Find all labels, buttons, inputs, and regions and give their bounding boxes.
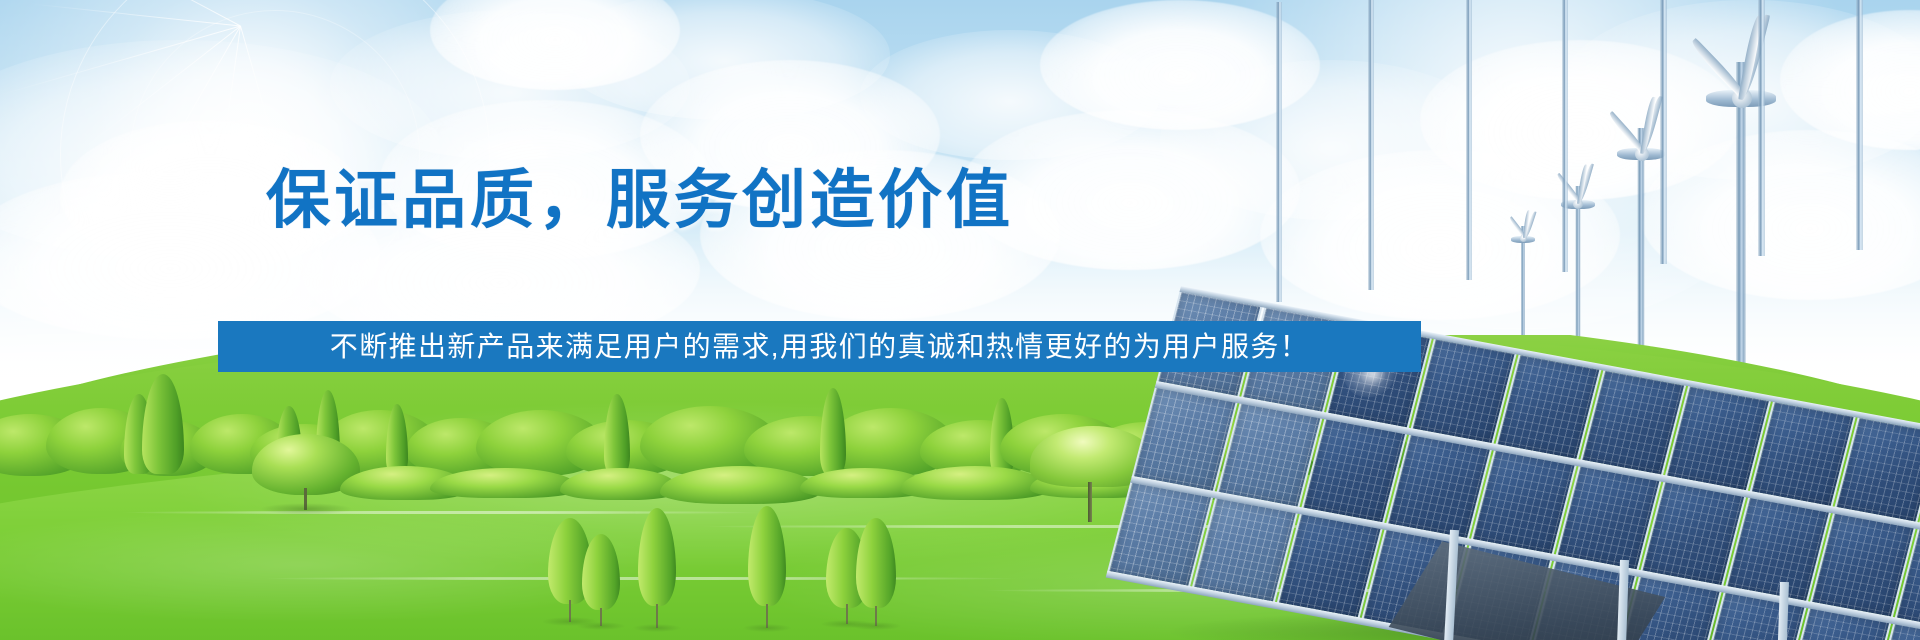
sapling-2: [582, 534, 620, 626]
solar-support-post: [1368, 0, 1374, 290]
sapling-crown: [582, 534, 620, 610]
sapling-shadow: [851, 622, 901, 630]
solar-array-leg: [1777, 582, 1789, 640]
solar-support-post: [1660, 0, 1667, 264]
cypress-tree: [142, 374, 184, 474]
solar-panel-array: [1150, 230, 1920, 640]
sapling-3: [638, 508, 676, 628]
sapling-6: [856, 518, 896, 626]
bush-shadow: [260, 503, 353, 515]
solar-support-post: [1562, 0, 1568, 272]
sapling-4: [748, 506, 786, 628]
hero-banner: 保证品质，服务创造价值 不断推出新产品来满足用户的需求,用我们的真诚和热情更好的…: [0, 0, 1920, 640]
cypress-tree: [820, 388, 846, 476]
page-title: 保证品质，服务创造价值: [0, 168, 1280, 232]
lone-bush-left: [252, 434, 360, 512]
sapling-shadow: [633, 624, 681, 632]
solar-support-post: [1466, 0, 1472, 280]
sapling-crown: [856, 518, 896, 608]
sapling-shadow: [577, 622, 625, 630]
sapling-crown: [748, 506, 786, 606]
subtitle-text: 不断推出新产品来满足用户的需求,用我们的真诚和热情更好的为用户服务！: [330, 333, 1309, 361]
solar-support-post: [1758, 0, 1765, 256]
willow-trunk: [1088, 482, 1092, 522]
cypress-tree: [604, 394, 630, 476]
solar-support-post: [1276, 2, 1282, 302]
subtitle-banner: 不断推出新产品来满足用户的需求,用我们的真诚和热情更好的为用户服务！: [218, 321, 1421, 372]
sapling-crown: [638, 508, 676, 606]
solar-support-post: [1856, 0, 1863, 250]
sapling-shadow: [743, 624, 791, 632]
